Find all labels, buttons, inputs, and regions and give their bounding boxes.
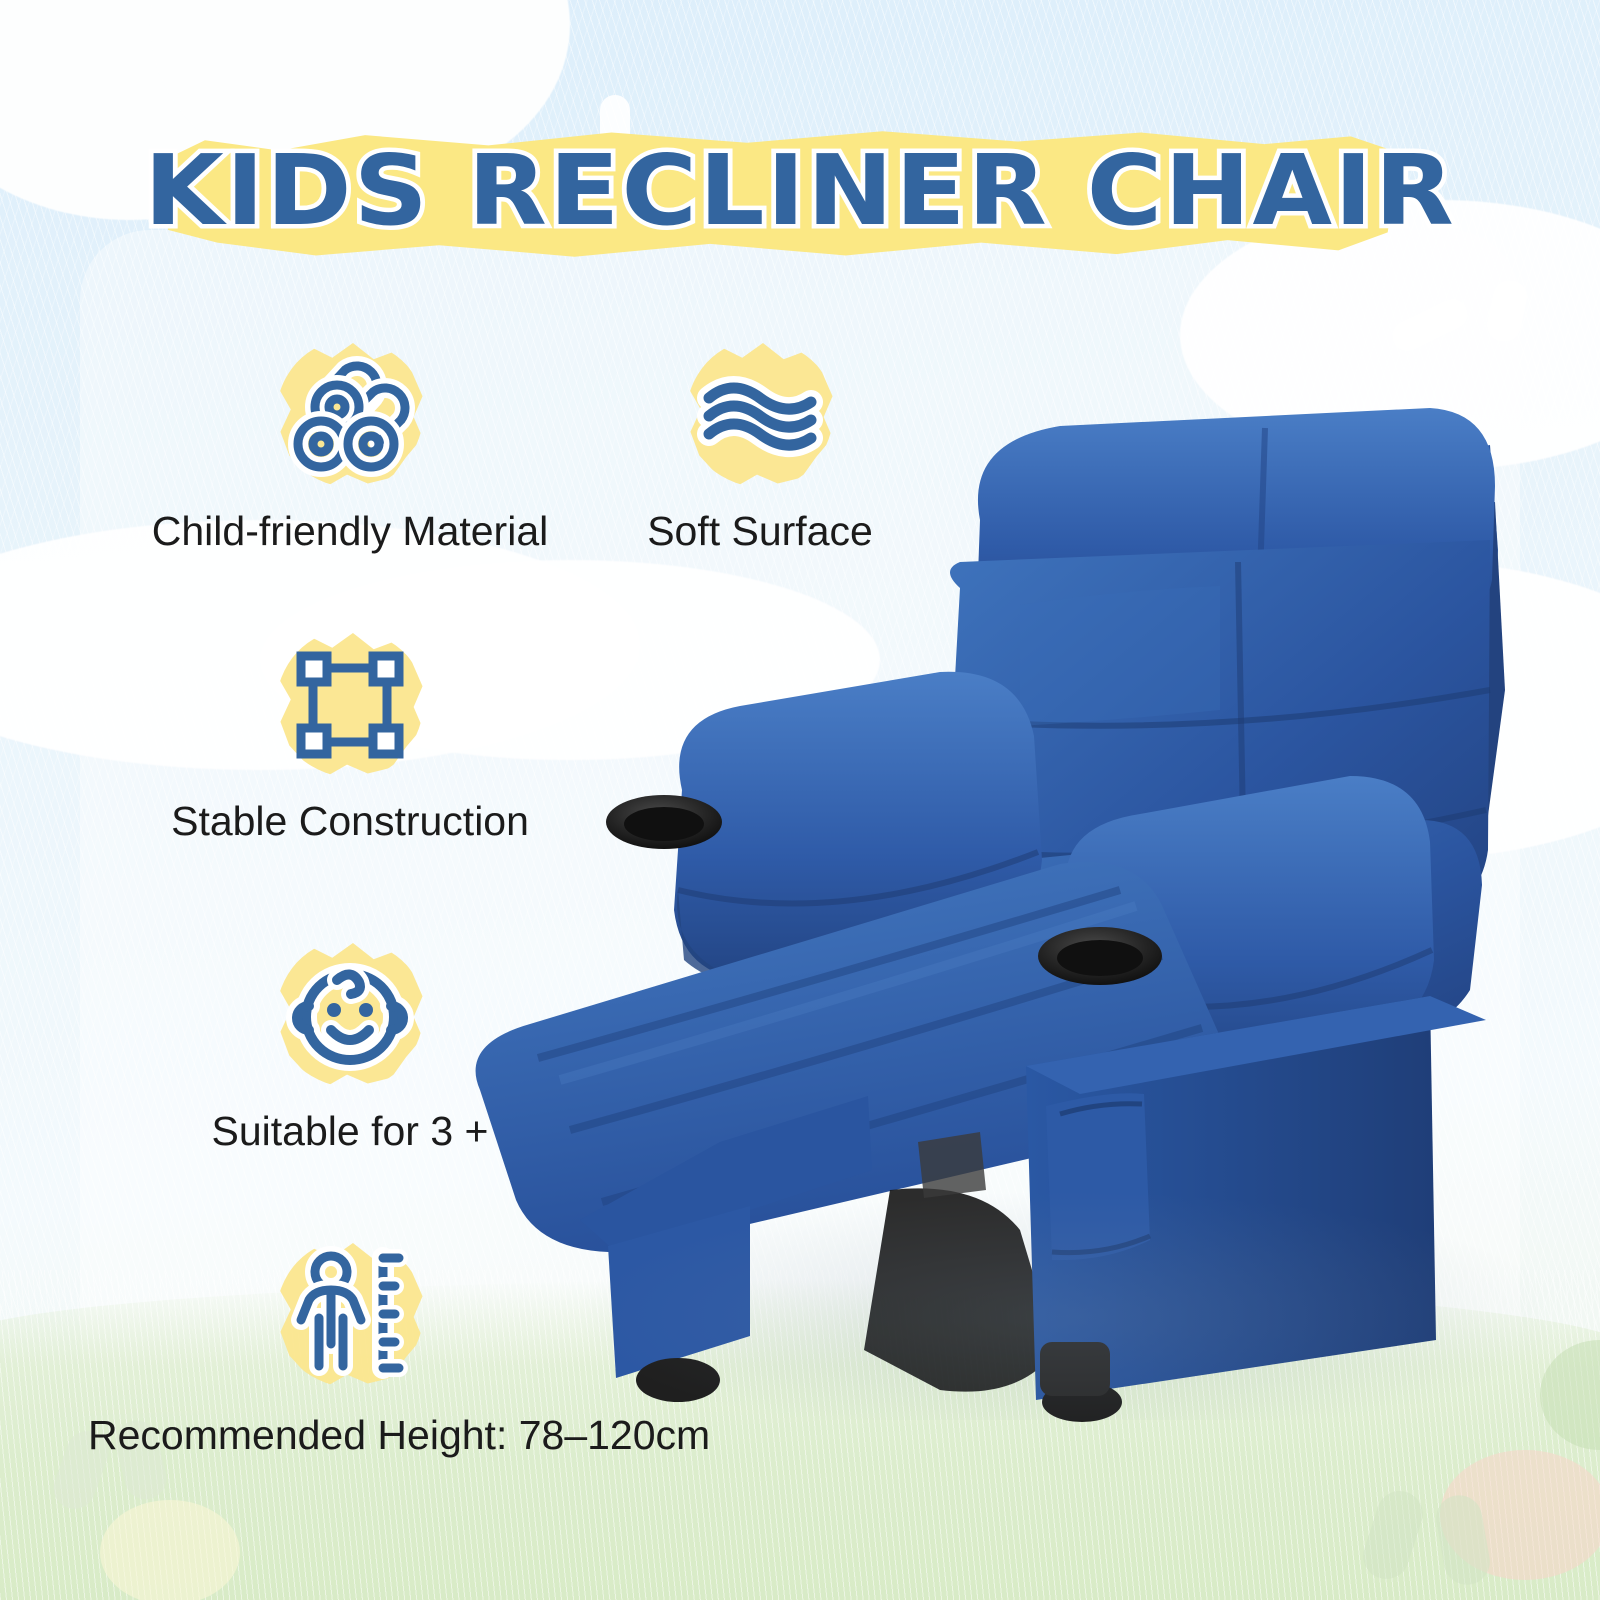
cup-holder-left-inner [624,807,704,841]
feature-label: Stable Construction [130,798,570,845]
fabric-rolls-icon [275,344,425,486]
infographic-canvas: KIDS RECLINER CHAIR [0,0,1600,1600]
page-title: KIDS RECLINER CHAIR [0,134,1600,247]
feature-label: Soft Surface [590,508,930,555]
backrest-highlight [1020,586,1220,726]
baby-face-icon [275,944,425,1086]
mechanism-bar [918,1132,986,1198]
feature-label: Child-friendly Material [130,508,570,555]
cup-holder-right-inner [1057,940,1143,976]
bounding-box-icon [275,634,425,776]
floor-shadow [570,1190,1570,1420]
pastel-blob-cream [100,1500,240,1600]
height-ruler-icon [275,1244,425,1386]
wavy-lines-icon [685,344,835,486]
feature-label: Recommended Height: 78–120cm [88,1412,848,1459]
feature-label: Suitable for 3 + [130,1108,570,1155]
title-block: KIDS RECLINER CHAIR [0,112,1600,282]
